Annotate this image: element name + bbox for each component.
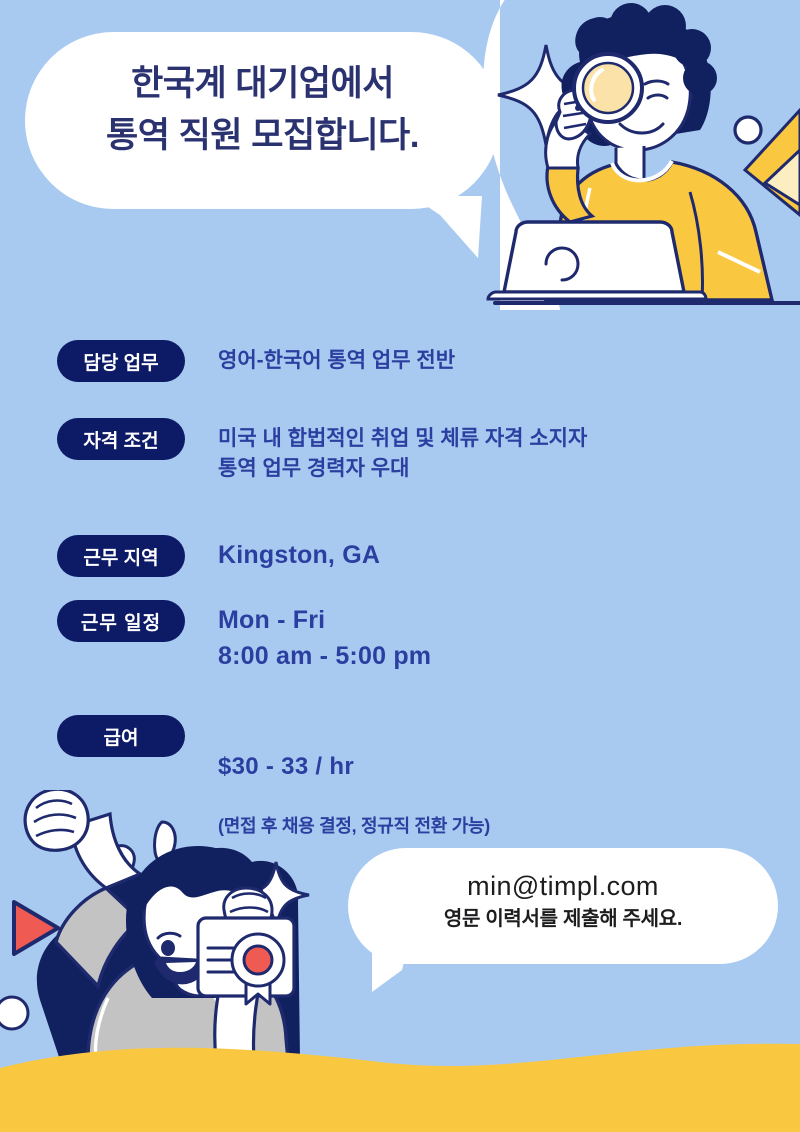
info-value-schedule: Mon - Fri 8:00 am - 5:00 pm [218,600,431,674]
pill-label-schedule: 근무 일정 [57,600,185,642]
info-value-salary: $30 - 33 / hr (면접 후 채용 결정, 정규직 전환 가능) [218,715,490,869]
info-row-salary: 급여 $30 - 33 / hr (면접 후 채용 결정, 정규직 전환 가능) [57,715,490,869]
info-row-location: 근무 지역 Kingston, GA [57,535,380,577]
page-title: 한국계 대기업에서 통역 직원 모집합니다. [25,58,500,162]
salary-amount: $30 - 33 / hr [218,751,490,783]
headline-line-2: 통역 직원 모집합니다. [25,110,500,162]
man-with-magnifier-illustration [447,0,800,310]
info-value-qualifications: 미국 내 합법적인 취업 및 체류 자격 소지자 통역 업무 경력자 우대 [218,418,587,484]
yellow-wave-footer [0,1044,800,1132]
pill-label-duties: 담당 업무 [57,340,185,382]
info-row-schedule: 근무 일정 Mon - Fri 8:00 am - 5:00 pm [57,600,431,674]
info-value-duties: 영어-한국어 통역 업무 전반 [218,340,455,376]
pill-label-location: 근무 지역 [57,535,185,577]
pill-label-qualifications: 자격 조건 [57,418,185,460]
contact-note: 영문 이력서를 제출해 주세요. [348,904,778,934]
salary-note: (면접 후 채용 결정, 정규직 전환 가능) [218,813,490,839]
contact-email[interactable]: min@timpl.com [348,868,778,904]
contact-info: min@timpl.com 영문 이력서를 제출해 주세요. [348,868,778,934]
headline-line-1: 한국계 대기업에서 [25,58,500,110]
job-posting-poster: 한국계 대기업에서 통역 직원 모집합니다. 담당 업무 영어-한국어 통역 업… [0,0,800,1132]
info-row-duties: 담당 업무 영어-한국어 통역 업무 전반 [57,340,455,382]
info-row-qualifications: 자격 조건 미국 내 합법적인 취업 및 체류 자격 소지자 통역 업무 경력자… [57,418,587,484]
info-value-location: Kingston, GA [218,535,380,573]
pill-label-salary: 급여 [57,715,185,757]
